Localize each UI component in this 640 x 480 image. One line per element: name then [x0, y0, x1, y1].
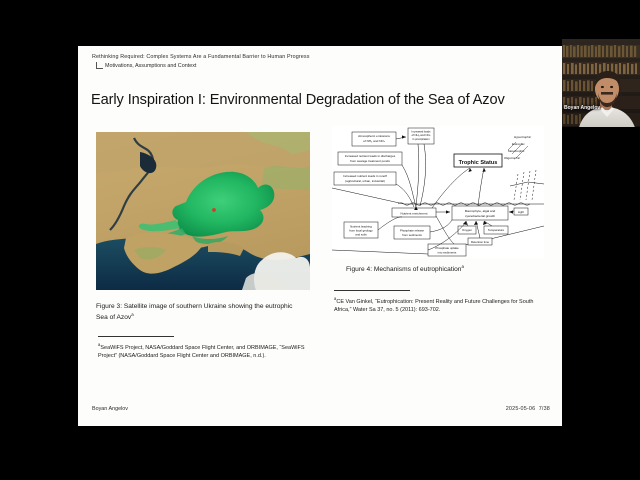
- svg-text:of NH₃ and NOₓ: of NH₃ and NOₓ: [363, 139, 386, 143]
- webcam-video: [562, 39, 640, 131]
- svg-text:of NH₃ and NOₓ: of NH₃ and NOₓ: [412, 133, 431, 137]
- footnote-left: aSeaWiFS Project, NASA/Goddard Space Fli…: [98, 342, 313, 361]
- figure-4-caption-marker: a: [461, 264, 463, 269]
- footer-author: Boyan Angelov: [92, 406, 128, 412]
- svg-text:Increased nutrient loads in ru: Increased nutrient loads in runoff: [343, 174, 387, 178]
- svg-text:Increased loads: Increased loads: [412, 130, 432, 134]
- presentation-window: Rethinking Required: Complex Systems Are…: [0, 0, 640, 480]
- footnote-right: aCE Van Ginkel, “Eutrophication: Present…: [334, 296, 539, 315]
- footnote-left-text: SeaWiFS Project, NASA/Goddard Space Flig…: [98, 345, 305, 359]
- slide-canvas: Rethinking Required: Complex Systems Are…: [78, 46, 562, 426]
- breadcrumb: Rethinking Required: Complex Systems Are…: [92, 54, 532, 69]
- svg-text:(agricultural, urban, industri: (agricultural, urban, industrial): [345, 179, 385, 183]
- svg-text:from sewage treatment ponds: from sewage treatment ponds: [350, 159, 390, 163]
- breadcrumb-subsection: Motivations, Assumptions and Context: [105, 63, 196, 69]
- svg-text:Nutrient enrichment: Nutrient enrichment: [401, 211, 428, 215]
- svg-text:Macrophyte, algal and: Macrophyte, algal and: [465, 209, 496, 213]
- svg-text:Oligotrophic: Oligotrophic: [504, 156, 521, 160]
- figure-3-caption: Figure 3: Satellite image of southern Uk…: [96, 302, 296, 322]
- svg-text:Hypertrophic: Hypertrophic: [514, 135, 532, 139]
- webcam-overlay[interactable]: Boyan Angelov: [562, 39, 640, 131]
- svg-text:Eutrophic: Eutrophic: [512, 142, 525, 146]
- footnote-right-text: CE Van Ginkel, “Eutrophication: Present …: [334, 299, 533, 313]
- footnote-rule-right: [334, 290, 410, 291]
- svg-text:and soils: and soils: [355, 233, 367, 237]
- svg-text:Phosphate release: Phosphate release: [400, 229, 424, 233]
- svg-text:cyanobacterial growth: cyanobacterial growth: [465, 214, 495, 218]
- svg-text:Retention time: Retention time: [471, 240, 489, 244]
- breadcrumb-section: Rethinking Required: Complex Systems Are…: [92, 54, 532, 60]
- svg-text:into sediments: into sediments: [438, 251, 457, 255]
- footer-date: 2025-05-06: [506, 406, 536, 412]
- footer-page-number: 7/38: [539, 406, 550, 412]
- svg-text:Phosphate uptake: Phosphate uptake: [435, 246, 459, 250]
- figure-3-caption-marker: a: [131, 312, 133, 317]
- footer-meta: 2025-05-06 7/38: [506, 406, 550, 412]
- svg-text:Oxygen: Oxygen: [462, 228, 472, 232]
- svg-text:Atmospheric emissions: Atmospheric emissions: [358, 134, 390, 138]
- eutrophication-diagram: Atmospheric emissions of NH₃ and NOₓ Inc…: [332, 126, 544, 258]
- svg-text:Increased nutrient loads in di: Increased nutrient loads in discharges: [345, 154, 396, 158]
- satellite-image-figure: [96, 132, 310, 290]
- eutrophication-diagram-figure: Atmospheric emissions of NH₃ and NOₓ Inc…: [332, 126, 544, 258]
- footnote-rule-left: [98, 336, 174, 337]
- webcam-speaker-name: Boyan Angelov: [564, 105, 600, 111]
- svg-text:Mesotrophic: Mesotrophic: [508, 149, 525, 153]
- svg-text:Light: Light: [518, 210, 524, 214]
- slide-title: Early Inspiration I: Environmental Degra…: [91, 92, 541, 108]
- diagram-trophic-status-label: Trophic Status: [459, 160, 498, 166]
- satellite-image: [96, 132, 310, 290]
- svg-text:from sediments: from sediments: [402, 233, 422, 237]
- svg-text:in precipitation: in precipitation: [412, 137, 430, 141]
- figure-4-caption: Figure 4: Mechanisms of eutrophicationa: [346, 264, 546, 275]
- breadcrumb-elbow-icon: [96, 62, 103, 69]
- svg-text:Temperature: Temperature: [488, 228, 505, 232]
